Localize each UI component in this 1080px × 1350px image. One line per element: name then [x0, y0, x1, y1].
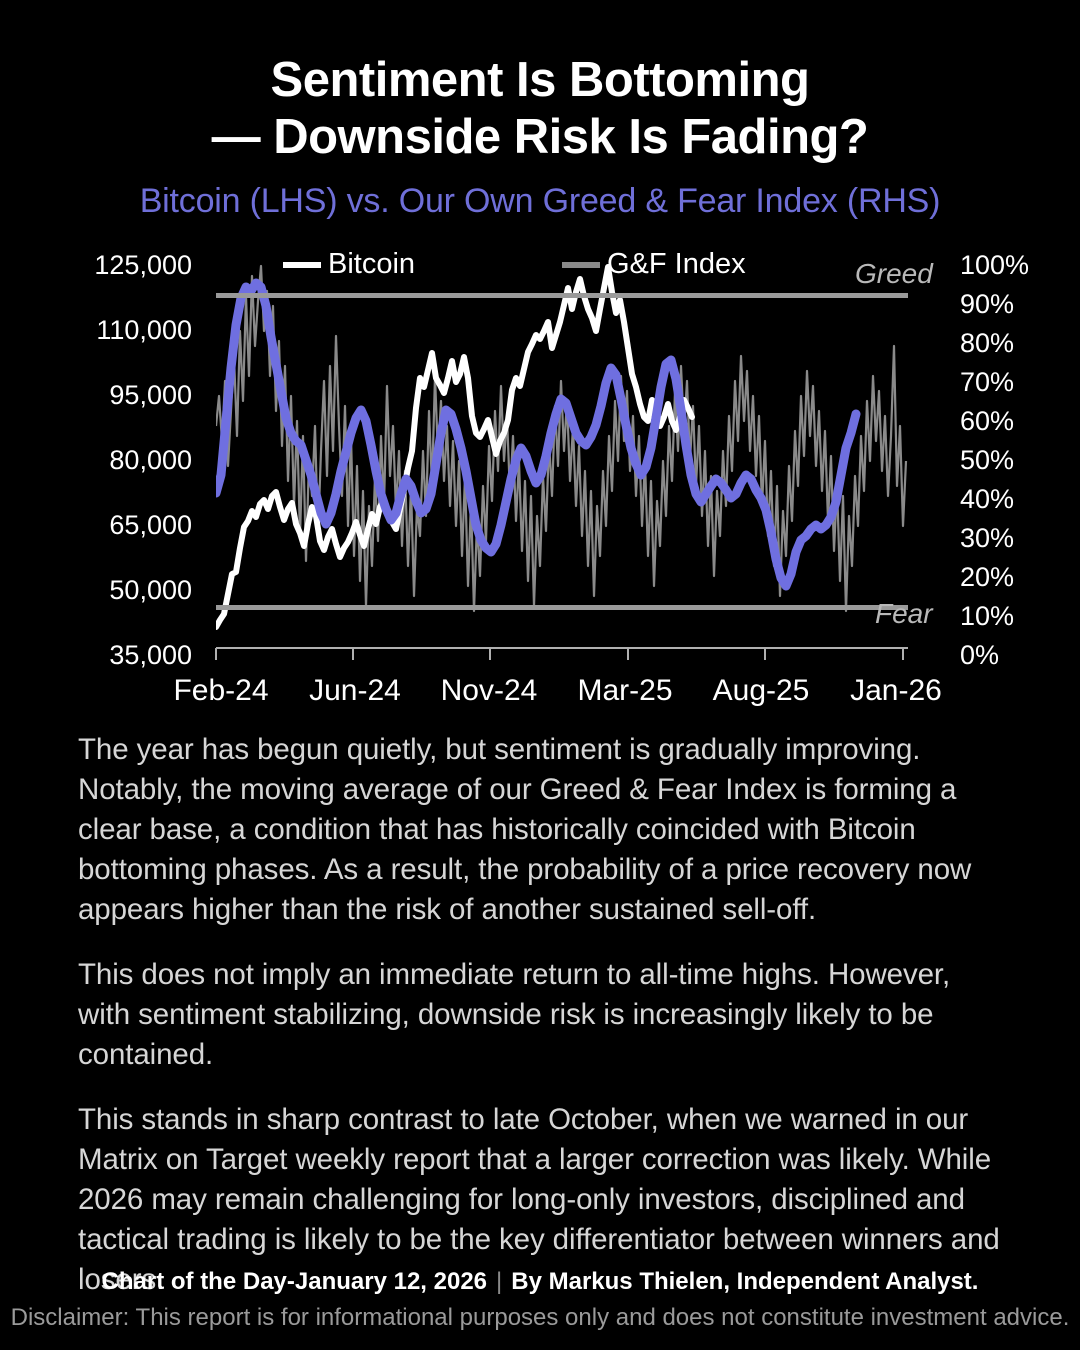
legend-item-gf-index[interactable]: G&F Index: [562, 250, 746, 279]
x-axis-tick-jan-26: Jan-26: [816, 676, 976, 706]
page-title: Sentiment Is Bottoming — Downside Risk I…: [0, 0, 1080, 166]
chart-of-the-day-card: Sentiment Is Bottoming — Downside Risk I…: [0, 0, 1080, 1350]
greed-zone-label: Greed: [855, 260, 933, 288]
legend-item-bitcoin[interactable]: Bitcoin: [283, 250, 415, 279]
y2-axis-tick-10: 10%: [960, 603, 1014, 630]
title-line-1: Sentiment Is Bottoming: [271, 53, 810, 107]
footer: Chart of the Day-January 12, 2026|By Mar…: [0, 1267, 1080, 1334]
page-subtitle: Bitcoin (LHS) vs. Our Own Greed & Fear I…: [0, 166, 1080, 222]
y2-axis-tick-70: 70%: [960, 369, 1014, 396]
y2-axis-tick-60: 60%: [960, 408, 1014, 435]
footer-disclaimer: Disclaimer: This report is for informati…: [0, 1302, 1080, 1334]
y2-axis-tick-40: 40%: [960, 486, 1014, 513]
y2-axis-tick-30: 30%: [960, 525, 1014, 552]
fear-zone-label: Fear: [875, 600, 933, 628]
y-axis-tick-80000: 80,000: [62, 447, 192, 474]
y-axis-tick-125000: 125,000: [62, 252, 192, 279]
legend-label-bitcoin: Bitcoin: [328, 250, 415, 279]
title-line-2: — Downside Risk Is Fading?: [0, 109, 1080, 166]
y-axis-tick-110000: 110,000: [62, 317, 192, 344]
gf-index-legend-swatch-icon: [562, 262, 600, 268]
y-axis-tick-35000: 35,000: [62, 642, 192, 669]
y2-axis-tick-20: 20%: [960, 564, 1014, 591]
x-axis-ticks: [216, 648, 903, 660]
y2-axis-tick-80: 80%: [960, 330, 1014, 357]
article-body: The year has begun quietly, but sentimen…: [0, 730, 1080, 1300]
y-axis-tick-95000: 95,000: [62, 382, 192, 409]
bitcoin-legend-swatch-icon: [283, 262, 321, 268]
y2-axis-tick-100: 100%: [960, 252, 1029, 279]
y2-axis-tick-90: 90%: [960, 291, 1014, 318]
body-paragraph-2: This does not imply an immediate return …: [78, 955, 1002, 1075]
body-paragraph-1: The year has begun quietly, but sentimen…: [78, 730, 1002, 930]
y-axis-tick-50000: 50,000: [62, 577, 192, 604]
footer-separator: |: [487, 1268, 511, 1295]
chart-container: Bitcoin G&F Index Greed Fear 125,000 110…: [0, 236, 1080, 716]
legend-label-gf-index: G&F Index: [607, 250, 746, 279]
footer-credit: Chart of the Day-January 12, 2026|By Mar…: [0, 1267, 1080, 1297]
chart-of-the-day-label: Chart of the Day-January 12, 2026: [102, 1268, 488, 1295]
footer-byline: By Markus Thielen, Independent Analyst.: [511, 1268, 978, 1295]
y2-axis-tick-0: 0%: [960, 642, 999, 669]
y2-axis-tick-50: 50%: [960, 447, 1014, 474]
y-axis-tick-65000: 65,000: [62, 512, 192, 539]
